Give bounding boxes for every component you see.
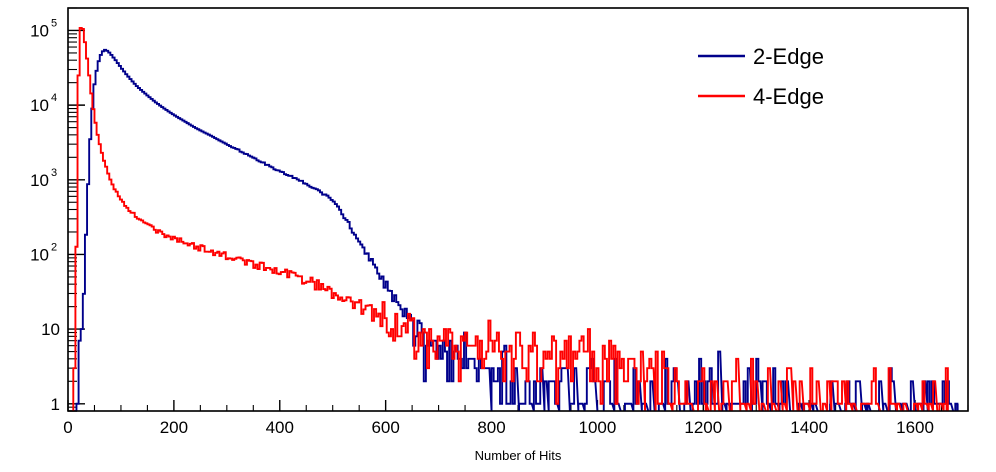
x-tick-label: 600: [371, 418, 399, 437]
x-tick-label: 1000: [578, 418, 616, 437]
x-tick-label: 1200: [684, 418, 722, 437]
legend-label-2-edge: 2-Edge: [753, 44, 824, 69]
x-tick-label: 1600: [896, 418, 934, 437]
x-tick-label: 200: [160, 418, 188, 437]
chart-canvas: 0200400600800100012001400160011010210310…: [0, 0, 996, 472]
x-tick-label: 400: [266, 418, 294, 437]
legend-label-4-edge: 4-Edge: [753, 84, 824, 109]
y-tick-exponent: 3: [51, 167, 57, 179]
y-tick-label: 10: [30, 245, 49, 264]
x-axis-title: Number of Hits: [475, 448, 562, 463]
y-tick-exponent: 2: [51, 241, 57, 253]
y-tick-label: 1: [51, 395, 60, 414]
histogram-plot: 0200400600800100012001400160011010210310…: [0, 0, 996, 472]
y-tick-label: 10: [30, 96, 49, 115]
y-tick-exponent: 5: [51, 17, 57, 29]
y-tick-label: 10: [41, 320, 60, 339]
y-tick-exponent: 4: [51, 92, 57, 104]
x-tick-label: 800: [477, 418, 505, 437]
y-tick-label: 10: [30, 21, 49, 40]
y-tick-label: 10: [30, 171, 49, 190]
x-tick-label: 0: [63, 418, 72, 437]
x-tick-label: 1400: [790, 418, 828, 437]
